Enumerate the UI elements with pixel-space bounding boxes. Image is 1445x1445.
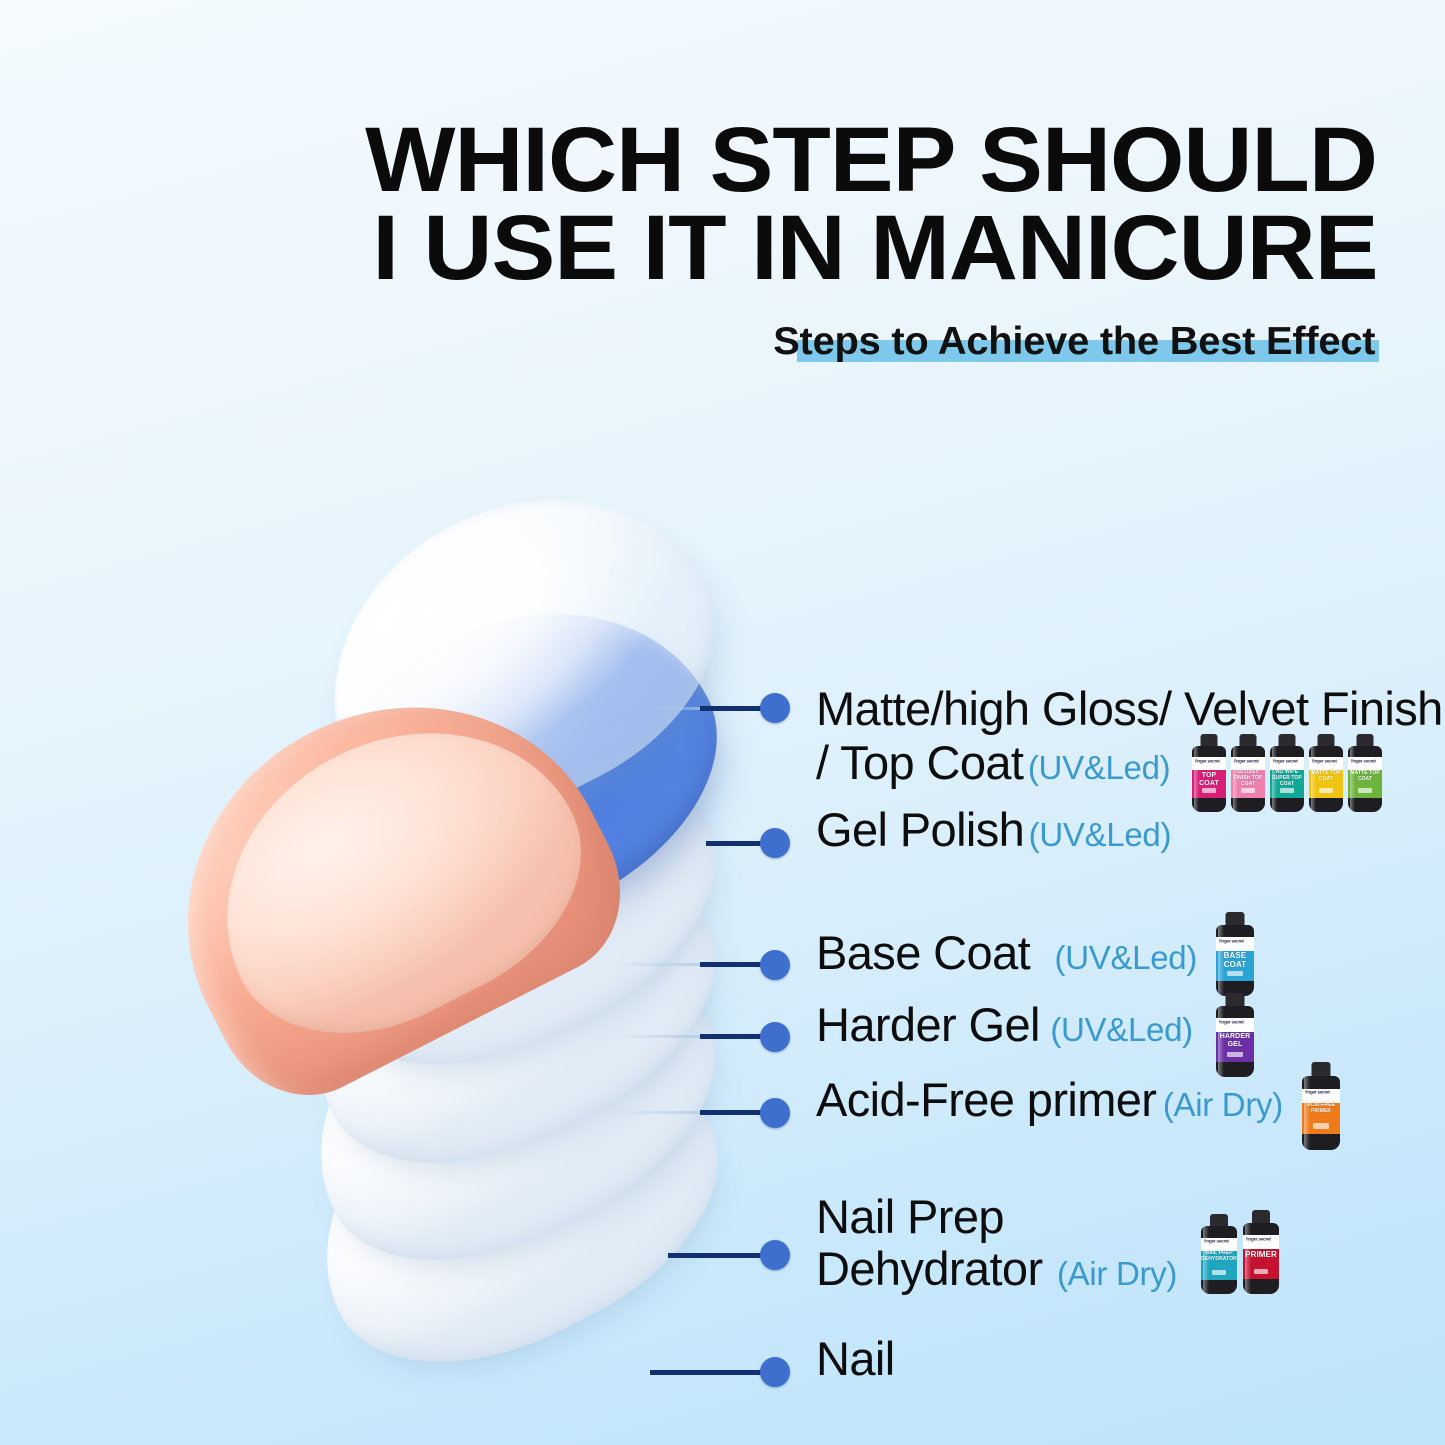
callout-dot-nail[interactable]: [760, 1357, 790, 1387]
bottle-label-bar: [1254, 1269, 1268, 1274]
bottle-top-coat-5: finger secret MATTE TOP COAT: [1348, 734, 1382, 812]
bottle-body: finger secret GLOSSY FINISH TOP COAT: [1231, 746, 1265, 812]
bottle-top-coat-4: finger secret MATTE TOP COAT: [1309, 734, 1343, 812]
bottle-body: finger secret PRIMER: [1243, 1223, 1279, 1294]
bottle-label-bar: [1313, 1123, 1328, 1129]
callout-dot-acid-free-primer[interactable]: [760, 1098, 790, 1128]
leader-line-gel-polish: [706, 841, 768, 846]
label-gel-polish: Gel Polish (UV&Led): [816, 805, 1171, 855]
callout-dot-base-coat[interactable]: [760, 950, 790, 980]
label-base-coat-text: Base Coat: [816, 926, 1030, 979]
bottle-label-bar: [1241, 788, 1255, 793]
label-base-coat-cure: (UV&Led): [1055, 939, 1198, 976]
bottle-acid-free-primer: finger secret ACID-FREE PRIMER: [1302, 1062, 1340, 1150]
leader-line-top-coat: [700, 706, 768, 711]
bottle-body: finger secret BASE COAT: [1216, 925, 1254, 996]
bottle-body: finger secret TOP COAT: [1192, 746, 1226, 812]
label-acid-free-primer: Acid-Free primer (Air Dry): [816, 1075, 1283, 1125]
bottle-gloss: [1304, 1076, 1310, 1150]
bottle-body: finger secret NO WIPE SUPER TOP COAT: [1270, 746, 1304, 812]
bottle-gloss: [1245, 1223, 1251, 1294]
bottle-body: finger secret ACID-FREE PRIMER: [1302, 1076, 1340, 1150]
bottle-label-bar: [1212, 1270, 1226, 1275]
label-harder-gel-cure: (UV&Led): [1050, 1011, 1193, 1048]
bottle-gloss: [1194, 746, 1199, 812]
leader-line-nail-prep-dehydrator: [668, 1253, 768, 1258]
label-gel-polish-text: Gel Polish: [816, 803, 1024, 856]
label-dehydrator-cure: (Air Dry): [1057, 1255, 1177, 1292]
callout-dot-nail-prep-dehydrator[interactable]: [760, 1240, 790, 1270]
label-nail: Nail: [816, 1334, 895, 1384]
label-top-coat-line-1: Matte/high Gloss/ Velvet Finish: [816, 682, 1443, 735]
bottle-top-coat-1: finger secret TOP COAT: [1192, 734, 1226, 812]
label-base-coat: Base Coat (UV&Led): [816, 928, 1197, 978]
callout-dot-harder-gel[interactable]: [760, 1022, 790, 1052]
bottle-body: finger secret HARDER GEL: [1216, 1006, 1254, 1077]
bottle-label-bar: [1202, 788, 1216, 793]
callout-dot-gel-polish[interactable]: [760, 828, 790, 858]
label-gel-polish-cure: (UV&Led): [1029, 816, 1172, 853]
bottle-gloss: [1272, 746, 1277, 812]
bottle-label-bar: [1227, 1052, 1242, 1057]
bottle-gloss: [1233, 746, 1238, 812]
label-dehydrator-line-1: Nail Prep: [816, 1190, 1004, 1243]
bottle-body: finger secret NAIL PREP DEHYDRATOR: [1201, 1226, 1237, 1294]
label-top-coat-cure: (UV&Led): [1028, 749, 1171, 786]
bottle-label-bar: [1280, 788, 1294, 793]
label-top-coat-line-2: / Top Coat: [816, 736, 1023, 789]
bottle-label-bar: [1227, 971, 1242, 976]
label-harder-gel-text: Harder Gel: [816, 998, 1040, 1051]
bottle-top-coat-2: finger secret GLOSSY FINISH TOP COAT: [1231, 734, 1265, 812]
leader-line-base-coat: [700, 962, 768, 967]
leader-line-nail: [650, 1370, 768, 1375]
bottle-base-coat: finger secret BASE COAT: [1216, 912, 1254, 996]
bottle-label-bar: [1319, 788, 1333, 793]
subtitle-container: Steps to Achieve the Best Effect: [785, 312, 1375, 364]
bottle-label-bar: [1358, 788, 1372, 793]
bottle-gloss: [1203, 1226, 1209, 1294]
leader-line-harder-gel: [700, 1034, 768, 1039]
label-nail-prep-dehydrator: Nail Prep Dehydrator (Air Dry): [816, 1192, 1177, 1294]
bottle-gloss: [1350, 746, 1355, 812]
label-acid-free-primer-cure: (Air Dry): [1163, 1086, 1283, 1123]
bottle-gloss: [1218, 925, 1224, 996]
callout-dot-top-coat[interactable]: [760, 693, 790, 723]
bottle-primer: finger secret PRIMER: [1243, 1210, 1279, 1294]
label-acid-free-primer-text: Acid-Free primer: [816, 1073, 1156, 1126]
label-nail-text: Nail: [816, 1332, 895, 1385]
bottle-body: finger secret MATTE TOP COAT: [1309, 746, 1343, 812]
page-subtitle: Steps to Achieve the Best Effect: [773, 320, 1375, 364]
label-dehydrator-line-2: Dehydrator: [816, 1242, 1043, 1295]
bottle-harder-gel: finger secret HARDER GEL: [1216, 993, 1254, 1077]
bottle-nail-prep-dehydrator: finger secret NAIL PREP DEHYDRATOR: [1201, 1214, 1237, 1294]
bottle-body: finger secret MATTE TOP COAT: [1348, 746, 1382, 812]
bottle-top-coat-3: finger secret NO WIPE SUPER TOP COAT: [1270, 734, 1304, 812]
bottle-gloss: [1218, 1006, 1224, 1077]
leader-line-acid-free-primer: [700, 1110, 768, 1115]
label-harder-gel: Harder Gel (UV&Led): [816, 1000, 1193, 1050]
bottle-gloss: [1311, 746, 1316, 812]
